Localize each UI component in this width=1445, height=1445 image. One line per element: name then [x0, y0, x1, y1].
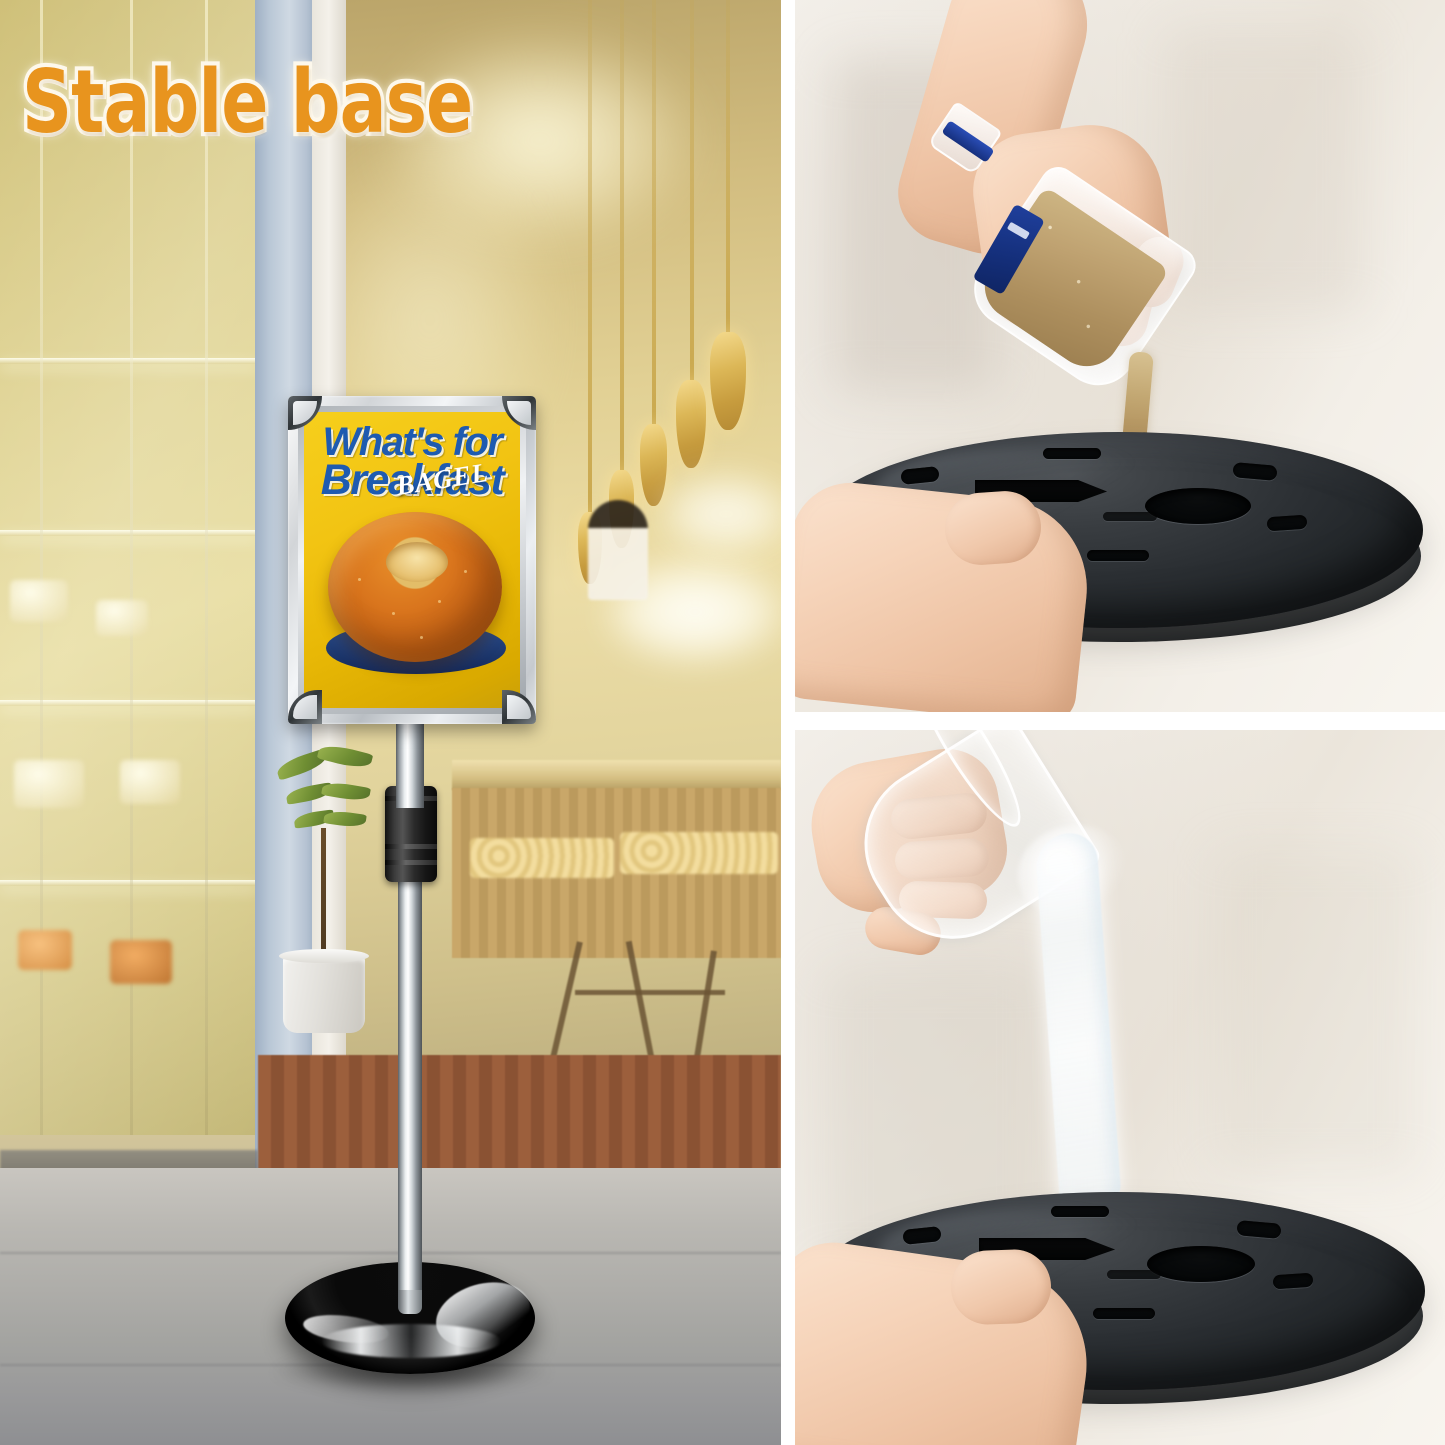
base-fill-port[interactable]: [1147, 1246, 1255, 1282]
stable-base-label: Stable base: [22, 52, 472, 153]
base-slot: [1267, 515, 1308, 532]
collar-ring: [385, 844, 437, 849]
water-inject-panel: Water Inject: [795, 730, 1445, 1445]
base-slot: [1273, 1273, 1314, 1290]
panel-divider-horizontal: [795, 712, 1445, 730]
backdrop-blur-shape: [1215, 850, 1415, 1170]
supporting-thumb: [950, 1248, 1053, 1325]
base-slot: [1093, 1308, 1155, 1319]
bagel-speck: [438, 600, 441, 603]
panel-divider-vertical: [781, 0, 795, 1445]
base-fill-port[interactable]: [1145, 488, 1251, 524]
inject-sand-panel: Inject Sand: [795, 0, 1445, 712]
base-slot: [1103, 512, 1157, 521]
poster-bagel: [328, 512, 502, 662]
pole-lower-section: [398, 870, 422, 1290]
bagel-speck: [420, 636, 423, 639]
frame-corner-bottom-right[interactable]: [502, 690, 536, 724]
bagel-speck: [392, 612, 395, 615]
bottle-label-strip: [1007, 222, 1030, 240]
bagel-speck: [358, 578, 361, 581]
collar-ring: [385, 860, 437, 865]
pole-upper-section: [396, 718, 424, 808]
base-slot: [1051, 1206, 1109, 1217]
base-slot: [1087, 550, 1149, 561]
base-slot: [1232, 462, 1277, 481]
bagel-speck: [464, 570, 467, 573]
stable-base-panel: What's for Breakfast BAGEL: [0, 0, 781, 1445]
frame-corner-bottom-left[interactable]: [288, 690, 322, 724]
pedestal-sign-stand: What's for Breakfast BAGEL: [0, 0, 781, 1445]
base-slot: [1043, 448, 1101, 459]
bagel-hole: [386, 542, 448, 582]
base-slot: [1107, 1270, 1161, 1279]
base-slot: [1236, 1220, 1281, 1239]
snap-frame[interactable]: What's for Breakfast BAGEL: [288, 396, 536, 724]
poster-artwork: What's for Breakfast BAGEL: [304, 412, 520, 708]
product-feature-collage: What's for Breakfast BAGEL: [0, 0, 1445, 1445]
